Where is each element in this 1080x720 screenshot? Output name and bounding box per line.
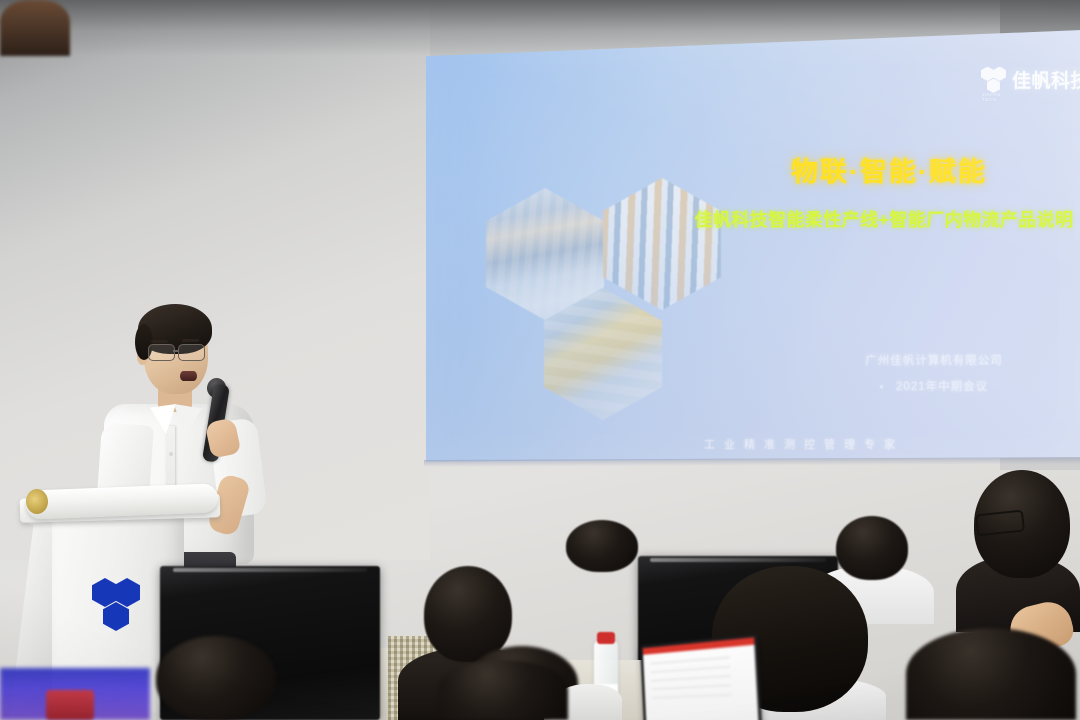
slide-brand-logo: JIAFAN TECH 佳帆科技 xyxy=(981,66,1080,93)
podium-red-light xyxy=(46,690,94,720)
projection-screen: 物联·智能·赋能 佳帆科技智能柔性产线+智能厂内物流产品说明 广州佳帆计算机有限… xyxy=(424,30,1080,466)
brand-subtext: JIAFAN TECH xyxy=(982,92,1007,102)
presenter-mouth xyxy=(180,371,197,381)
audience-head xyxy=(566,520,638,572)
warehouse-racking-photo xyxy=(603,178,721,310)
audience-head xyxy=(836,516,908,580)
bottle-cap xyxy=(597,632,615,644)
blue-hexagon-logo-icon xyxy=(92,578,142,626)
audience-head xyxy=(906,628,1076,720)
photograph-scene: 物联·智能·赋能 佳帆科技智能柔性产线+智能厂内物流产品说明 广州佳帆计算机有限… xyxy=(0,0,1080,720)
audience-head xyxy=(438,660,568,720)
hexagon-cluster-icon: JIAFAN TECH xyxy=(981,67,1007,93)
slide-tagline: 工业精准测控管理专家 xyxy=(604,436,1004,452)
audience-hair-brown xyxy=(0,0,70,56)
slide-company-name: 广州佳帆计算机有限公司 xyxy=(824,352,1044,368)
audience-head xyxy=(424,566,512,662)
laptop-document-lines xyxy=(650,656,731,700)
laptop xyxy=(640,634,762,720)
eyeglasses-icon xyxy=(148,344,210,360)
slide-meeting-name: •2021年中期会议 xyxy=(824,378,1044,394)
slide-subtitle: 佳帆科技智能柔性产线+智能厂内物流产品说明 xyxy=(674,206,1080,232)
slide-meeting-text: 2021年中期会议 xyxy=(896,381,988,393)
brand-name: 佳帆科技 xyxy=(1012,66,1080,93)
bullet-icon: • xyxy=(880,382,884,392)
slide-title: 物联·智能·赋能 xyxy=(724,150,1054,189)
screen-bottom-edge xyxy=(424,457,1080,467)
audience-head-front xyxy=(156,636,276,720)
